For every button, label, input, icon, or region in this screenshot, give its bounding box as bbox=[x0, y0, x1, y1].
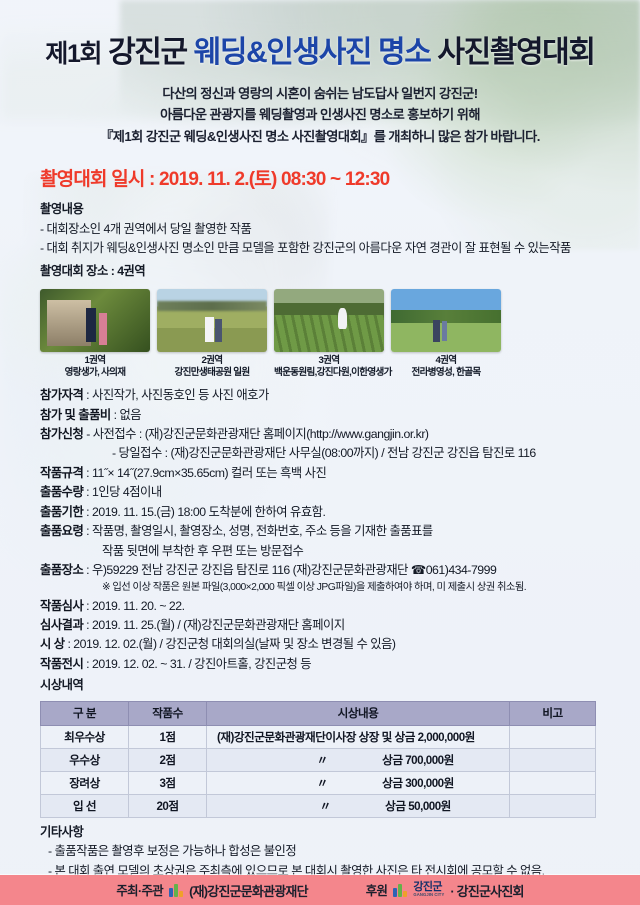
detail-label: 출품장소 bbox=[40, 563, 83, 577]
table-row: 우수상 2점 〃상금 700,000원 bbox=[41, 748, 596, 771]
detail-row: 출품기한 : 2019. 11. 15.(금) 18:00 도착분에 한하여 유… bbox=[40, 503, 640, 522]
detail-row: - 당일접수 : (재)강진군문화관광재단 사무실(08:00까지) / 전남 … bbox=[40, 444, 640, 463]
places-label: 촬영대회 장소 : 4권역 bbox=[40, 262, 640, 281]
footer-sponsor-bar: 주최·주관 (재)강진군문화관광재단 후원 강진군 GANGJIN CITY ·… bbox=[0, 875, 640, 905]
place-name-label: 영랑생가, 사의재 bbox=[65, 367, 126, 378]
detail-label: 출품수량 bbox=[40, 485, 83, 499]
detail-row: 출품장소 : 우)59229 전남 강진군 강진읍 탐진로 116 (재)강진군… bbox=[40, 561, 640, 580]
detail-row: 참가신청 - 사전접수 : (재)강진군문화관광재단 홈페이지(http://w… bbox=[40, 425, 640, 444]
subtitle-line: 『제1회 강진군 웨딩&인생사진 명소 사진촬영대회』를 개최하니 많은 참가 … bbox=[0, 126, 640, 147]
cell-note bbox=[510, 771, 596, 794]
place-zone-label: 4권역 bbox=[391, 355, 501, 368]
title-part-1: 제1회 bbox=[45, 40, 101, 68]
place-zone-label: 2권역 bbox=[157, 355, 267, 368]
cell-grade: 입 선 bbox=[41, 794, 129, 817]
detail-sep: : bbox=[83, 599, 92, 613]
cell-count: 1점 bbox=[129, 725, 207, 748]
detail-label: 출품요령 bbox=[40, 524, 83, 538]
place-caption-2: 2권역 강진만생태공원 일원 bbox=[157, 355, 267, 380]
cell-prize: 〃상금 700,000원 bbox=[207, 748, 510, 771]
detail-row: 참가자격 : 사진작가, 사진동호인 등 사진 애호가 bbox=[40, 386, 640, 405]
table-row: 입 선 20점 〃상금 50,000원 bbox=[41, 794, 596, 817]
title-part-5: 사진촬영대회 bbox=[437, 36, 594, 69]
subtitle-line: 아름다운 관광지를 웨딩촬영과 인생사진 명소로 홍보하기 위해 bbox=[0, 104, 640, 125]
title-part-4: 명소 bbox=[378, 36, 430, 69]
detail-value: 우)59229 전남 강진군 강진읍 탐진로 116 (재)강진군문화관광재단 … bbox=[92, 563, 496, 577]
detail-label: 작품심사 bbox=[40, 599, 83, 613]
detail-sep: : bbox=[83, 524, 92, 538]
sponsor-name: · 강진군사진회 bbox=[450, 881, 523, 900]
detail-value: - 사전접수 : (재)강진군문화관광재단 홈페이지(http://www.ga… bbox=[86, 427, 428, 441]
page-title: 제1회 강진군 웨딩&인생사진 명소 사진촬영대회 bbox=[0, 38, 640, 68]
detail-row: 작품전시 : 2019. 12. 02. ~ 31. / 강진아트홀, 강진군청… bbox=[40, 655, 640, 674]
detail-value: 2019. 12. 02.(월) / 강진군청 대회의실(날짜 및 장소 변경될… bbox=[73, 637, 395, 651]
cell-count: 2점 bbox=[129, 748, 207, 771]
cell-note bbox=[510, 794, 596, 817]
prize-amount: 상금 700,000원 bbox=[382, 754, 454, 767]
place-photo-3 bbox=[274, 289, 384, 352]
detail-label: 작품전시 bbox=[40, 657, 83, 671]
detail-row: 심사결과 : 2019. 11. 25.(월) / (재)강진군문화관광재단 홈… bbox=[40, 616, 640, 635]
subtitle-line: 다산의 정신과 영랑의 시혼이 숨쉬는 남도답사 일번지 강진군! bbox=[0, 83, 640, 104]
note-item: - 출품작품은 촬영후 보정은 가능하나 합성은 불인정 bbox=[40, 842, 640, 861]
detail-row: 작품심사 : 2019. 11. 20. ~ 22. bbox=[40, 597, 640, 616]
body-content: 촬영내용 - 대회장소인 4개 권역에서 당일 촬영한 작품 - 대회 취지가 … bbox=[40, 200, 640, 282]
sponsor-label: 후원 bbox=[366, 881, 388, 899]
poster-root: 제1회 강진군 웨딩&인생사진 명소 사진촬영대회 다산의 정신과 영랑의 시혼… bbox=[0, 0, 640, 905]
place-photo-1 bbox=[40, 289, 150, 352]
detail-value: 2019. 11. 25.(월) / (재)강진군문화관광재단 홈페이지 bbox=[92, 618, 345, 632]
places-gallery: 1권역 영랑생가, 사의재 2권역 강진만생태공원 일원 3권역 백운동원림 bbox=[40, 289, 600, 380]
cell-prize: 〃상금 300,000원 bbox=[207, 771, 510, 794]
awards-table: 구 분 작품수 시상내용 비고 최우수상 1점 (재)강진군문화관광재단이사장 … bbox=[40, 701, 596, 818]
subtitle-block: 다산의 정신과 영랑의 시혼이 숨쉬는 남도답사 일번지 강진군! 아름다운 관… bbox=[0, 83, 640, 147]
gangjin-city-wordmark: 강진군 GANGJIN CITY bbox=[413, 882, 444, 897]
detail-sep: : bbox=[83, 505, 92, 519]
detail-sep: : bbox=[83, 657, 92, 671]
detail-sep: : bbox=[83, 388, 92, 402]
prize-amount: 상금 50,000원 bbox=[385, 800, 451, 813]
ditto-mark: 〃 bbox=[262, 752, 382, 768]
detail-label: 심사결과 bbox=[40, 618, 83, 632]
detail-row: 참가 및 출품비 : 없음 bbox=[40, 406, 640, 425]
host-label: 주최·주관 bbox=[116, 881, 163, 899]
gangjin-city-logo-icon bbox=[393, 884, 407, 897]
notes-label: 기타사항 bbox=[40, 823, 640, 842]
cell-prize: (재)강진군문화관광재단이사장 상장 및 상금 2,000,000원 bbox=[207, 725, 510, 748]
place-name-label: 백운동원림,강진다원,이한영생가 bbox=[274, 367, 392, 378]
cell-prize: 〃상금 50,000원 bbox=[207, 794, 510, 817]
place-zone-label: 3권역 bbox=[274, 355, 384, 368]
place-card: 4권역 전라병영성, 한골목 bbox=[391, 289, 501, 380]
detail-sep: : bbox=[83, 485, 92, 499]
detail-value: 1인당 4점이내 bbox=[92, 485, 162, 499]
place-name-label: 전라병영성, 한골목 bbox=[412, 367, 481, 378]
prize-amount: 상금 300,000원 bbox=[382, 777, 454, 790]
detail-value: 작품 뒷면에 부착한 후 우편 또는 방문접수 bbox=[102, 544, 303, 558]
detail-value: 2019. 12. 02. ~ 31. / 강진아트홀, 강진군청 등 bbox=[92, 657, 311, 671]
awards-table-wrap: 구 분 작품수 시상내용 비고 최우수상 1점 (재)강진군문화관광재단이사장 … bbox=[40, 701, 596, 818]
detail-sep: : bbox=[83, 466, 92, 480]
detail-label: 작품규격 bbox=[40, 466, 83, 480]
detail-row: 시 상 : 2019. 12. 02.(월) / 강진군청 대회의실(날짜 및 … bbox=[40, 635, 640, 654]
host-name: (재)강진군문화관광재단 bbox=[189, 881, 308, 900]
place-zone-label: 1권역 bbox=[40, 355, 150, 368]
cell-note bbox=[510, 725, 596, 748]
detail-value: 2019. 11. 15.(금) 18:00 도착분에 한하여 유효함. bbox=[92, 505, 325, 519]
detail-value: 사진작가, 사진동호인 등 사진 애호가 bbox=[92, 388, 269, 402]
detail-footnote: ※ 입선 이상 작품은 원본 파일(3,000×2,000 픽셀 이상 JPG파… bbox=[40, 580, 640, 596]
sponsor-logo-en: GANGJIN CITY bbox=[413, 893, 444, 897]
detail-label: 시 상 bbox=[40, 637, 65, 651]
table-row: 최우수상 1점 (재)강진군문화관광재단이사장 상장 및 상금 2,000,00… bbox=[41, 725, 596, 748]
detail-row: 출품요령 : 작품명, 촬영일시, 촬영장소, 성명, 전화번호, 주소 등을 … bbox=[40, 522, 640, 541]
detail-row: 작품 뒷면에 부착한 후 우편 또는 방문접수 bbox=[40, 542, 640, 561]
sponsor-group: 후원 강진군 GANGJIN CITY · 강진군사진회 bbox=[366, 881, 524, 900]
detail-sep: : bbox=[83, 563, 92, 577]
cell-count: 20점 bbox=[129, 794, 207, 817]
detail-label: 참가 및 출품비 bbox=[40, 408, 111, 422]
place-photo-2 bbox=[157, 289, 267, 352]
table-header-row: 구 분 작품수 시상내용 비고 bbox=[41, 701, 596, 725]
detail-value: 2019. 11. 20. ~ 22. bbox=[92, 599, 185, 613]
detail-value: 11˝× 14˝(27.9cm×35.65cm) 컬러 또는 흑백 사진 bbox=[92, 466, 326, 480]
place-caption-3: 3권역 백운동원림,강진다원,이한영생가 bbox=[274, 355, 384, 380]
title-part-2: 강진군 bbox=[108, 36, 187, 69]
cell-note bbox=[510, 748, 596, 771]
host-group: 주최·주관 (재)강진군문화관광재단 bbox=[116, 881, 307, 900]
title-part-3: 웨딩&인생사진 bbox=[194, 36, 371, 69]
awards-label: 시상내역 bbox=[40, 676, 640, 695]
cell-grade: 우수상 bbox=[41, 748, 129, 771]
column-header-count: 작품수 bbox=[129, 701, 207, 725]
place-caption-1: 1권역 영랑생가, 사의재 bbox=[40, 355, 150, 380]
column-header-prize: 시상내용 bbox=[207, 701, 510, 725]
foundation-logo-icon bbox=[169, 884, 183, 897]
place-caption-4: 4권역 전라병영성, 한골목 bbox=[391, 355, 501, 380]
detail-row: 출품수량 : 1인당 4점이내 bbox=[40, 483, 640, 502]
place-name-label: 강진만생태공원 일원 bbox=[174, 367, 249, 378]
detail-list: 참가자격 : 사진작가, 사진동호인 등 사진 애호가 참가 및 출품비 : 없… bbox=[40, 386, 640, 696]
detail-label: 출품기한 bbox=[40, 505, 83, 519]
cell-grade: 최우수상 bbox=[41, 725, 129, 748]
detail-label: 참가자격 bbox=[40, 388, 83, 402]
shoot-content-item: - 대회 취지가 웨딩&인생사진 명소인 만큼 모델을 포함한 강진군의 아름다… bbox=[40, 239, 640, 258]
detail-label: 참가신청 bbox=[40, 427, 83, 441]
detail-row: 작품규격 : 11˝× 14˝(27.9cm×35.65cm) 컬러 또는 흑백… bbox=[40, 464, 640, 483]
cell-grade: 장려상 bbox=[41, 771, 129, 794]
ditto-mark: 〃 bbox=[265, 798, 385, 814]
detail-value: ※ 입선 이상 작품은 원본 파일(3,000×2,000 픽셀 이상 JPG파… bbox=[102, 582, 526, 593]
detail-value: - 당일접수 : (재)강진군문화관광재단 사무실(08:00까지) / 전남 … bbox=[112, 446, 536, 460]
place-photo-4 bbox=[391, 289, 501, 352]
shoot-content-label: 촬영내용 bbox=[40, 200, 640, 219]
table-row: 장려상 3점 〃상금 300,000원 bbox=[41, 771, 596, 794]
detail-value: 없음 bbox=[119, 408, 141, 422]
cell-count: 3점 bbox=[129, 771, 207, 794]
detail-value: 작품명, 촬영일시, 촬영장소, 성명, 전화번호, 주소 등을 기재한 출품표… bbox=[92, 524, 433, 538]
detail-sep: : bbox=[65, 637, 74, 651]
place-card: 1권역 영랑생가, 사의재 bbox=[40, 289, 150, 380]
place-card: 3권역 백운동원림,강진다원,이한영생가 bbox=[274, 289, 384, 380]
column-header-grade: 구 분 bbox=[41, 701, 129, 725]
place-card: 2권역 강진만생태공원 일원 bbox=[157, 289, 267, 380]
shoot-content-item: - 대회장소인 4개 권역에서 당일 촬영한 작품 bbox=[40, 220, 640, 239]
detail-sep: : bbox=[83, 618, 92, 632]
ditto-mark: 〃 bbox=[262, 775, 382, 791]
event-date-banner: 촬영대회 일시 : 2019. 11. 2.(토) 08:30 ~ 12:30 bbox=[40, 164, 640, 191]
column-header-note: 비고 bbox=[510, 701, 596, 725]
